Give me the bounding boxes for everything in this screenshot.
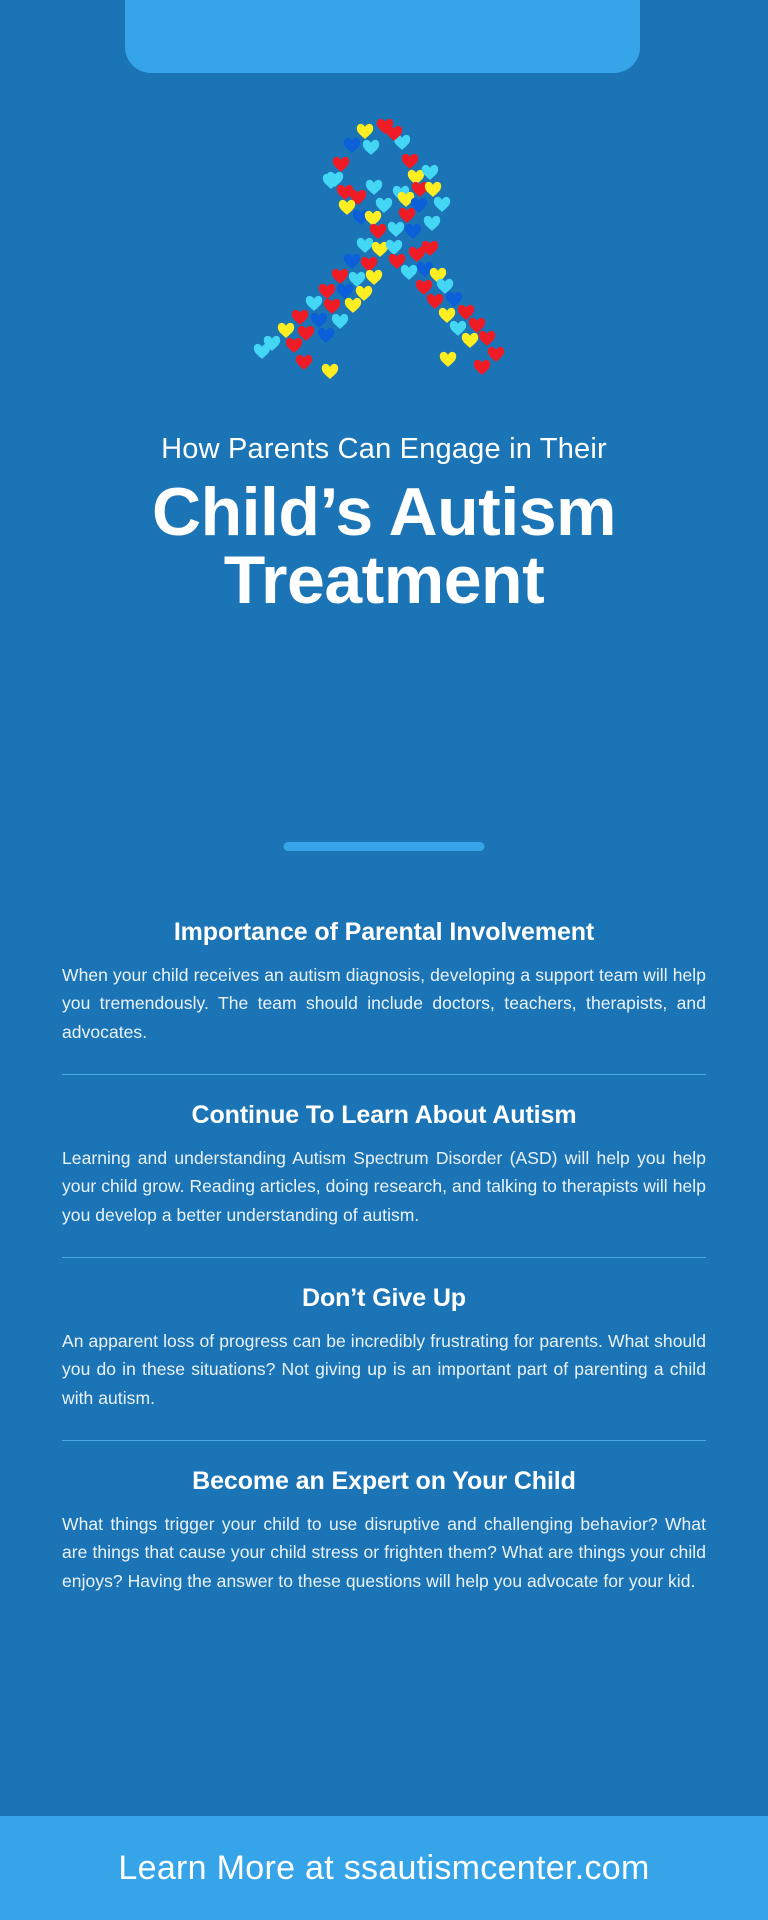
ribbon-graphic: [0, 108, 768, 408]
section-body: What things trigger your child to use di…: [62, 1510, 706, 1595]
page-title: Child’s Autism Treatment: [0, 479, 768, 614]
section-continue-to-learn-about-autism: Continue To Learn About Autism Learning …: [62, 1101, 706, 1229]
section-become-an-expert-on-your-child: Become an Expert on Your Child What thin…: [62, 1467, 706, 1595]
section-divider: [62, 1440, 706, 1441]
section-dont-give-up: Don’t Give Up An apparent loss of progre…: [62, 1284, 706, 1412]
section-importance-of-parental-involvement: Importance of Parental Involvement When …: [62, 918, 706, 1046]
infographic-poster: How Parents Can Engage in Their Child’s …: [0, 0, 768, 1920]
section-body: An apparent loss of progress can be incr…: [62, 1327, 706, 1412]
headline-block: How Parents Can Engage in Their Child’s …: [0, 432, 768, 614]
section-title: Don’t Give Up: [62, 1284, 706, 1313]
section-body: When your child receives an autism diagn…: [62, 961, 706, 1046]
section-title: Importance of Parental Involvement: [62, 918, 706, 947]
top-accent-bar: [125, 0, 640, 73]
footer-cta-band[interactable]: Learn More at ssautismcenter.com: [0, 1816, 768, 1920]
title-accent-rule: [284, 842, 485, 851]
footer-cta-text: Learn More at ssautismcenter.com: [118, 1849, 649, 1888]
section-body: Learning and understanding Autism Spectr…: [62, 1144, 706, 1229]
section-title: Become an Expert on Your Child: [62, 1467, 706, 1496]
sections-list: Importance of Parental Involvement When …: [62, 918, 706, 1595]
section-title: Continue To Learn About Autism: [62, 1101, 706, 1130]
section-divider: [62, 1074, 706, 1075]
autism-ribbon-hearts-icon: [234, 108, 534, 398]
section-divider: [62, 1257, 706, 1258]
eyebrow-text: How Parents Can Engage in Their: [0, 432, 768, 467]
